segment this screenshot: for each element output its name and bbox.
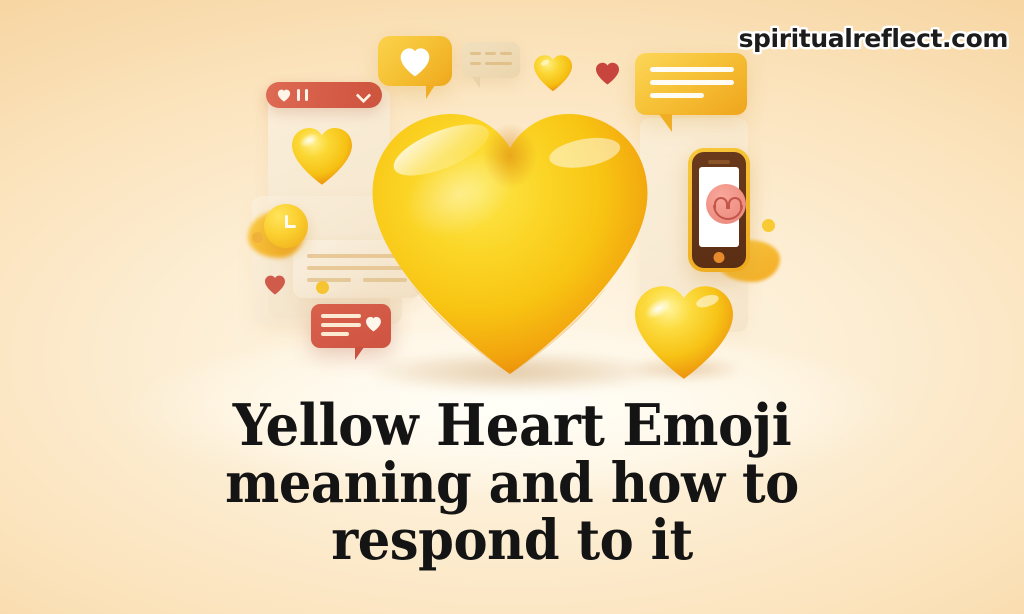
dash-1 xyxy=(470,52,481,55)
illustration-canvas: spiritualreflect.com Yellow Heart Emoji … xyxy=(0,0,1024,614)
dash-3 xyxy=(500,52,512,55)
chevron-down-icon[interactable] xyxy=(356,88,372,104)
watermark: spiritualreflect.com xyxy=(739,24,1008,53)
heart-tiny-red-left xyxy=(264,275,286,295)
title-line-2: meaning and how to xyxy=(36,456,988,510)
dot-left-orange xyxy=(252,232,263,243)
bubble-line-3 xyxy=(650,93,704,98)
title-line-1: Yellow Heart Emoji xyxy=(36,398,988,454)
page-title: Yellow Heart Emoji meaning and how to re… xyxy=(0,398,1024,567)
dot-center-yellow xyxy=(316,281,329,294)
bubble-tail xyxy=(472,77,480,88)
large-yellow-heart xyxy=(345,105,675,380)
pause-icon-bar-left xyxy=(297,89,300,101)
dash-2 xyxy=(485,52,496,55)
dot-right-yellow xyxy=(762,219,775,232)
phone-screen xyxy=(699,167,739,247)
clock-badge xyxy=(264,204,308,248)
white-heart-icon xyxy=(398,47,432,77)
bubble-yellow-heart[interactable] xyxy=(378,36,452,86)
dash-5 xyxy=(485,62,512,65)
heart-small-top xyxy=(532,54,574,92)
pause-icon-bar-right xyxy=(305,89,308,101)
heart-icon xyxy=(277,89,291,102)
bubble-line-1 xyxy=(650,67,734,72)
dash-4 xyxy=(470,62,481,65)
phone-home-button[interactable] xyxy=(714,252,725,263)
smiley-mouth xyxy=(713,205,743,220)
phone-bezel xyxy=(692,152,746,268)
bubble-line-2 xyxy=(650,80,734,85)
smiley-face xyxy=(706,184,746,224)
heart-tiny-red-top xyxy=(595,62,620,85)
clock-hand-minute xyxy=(285,225,296,228)
bubble-beige-dashes[interactable] xyxy=(462,42,520,78)
phone-speaker xyxy=(708,160,730,164)
smartphone[interactable] xyxy=(688,148,750,272)
bubble-tail xyxy=(426,85,435,99)
title-line-3: respond to it xyxy=(36,513,988,567)
